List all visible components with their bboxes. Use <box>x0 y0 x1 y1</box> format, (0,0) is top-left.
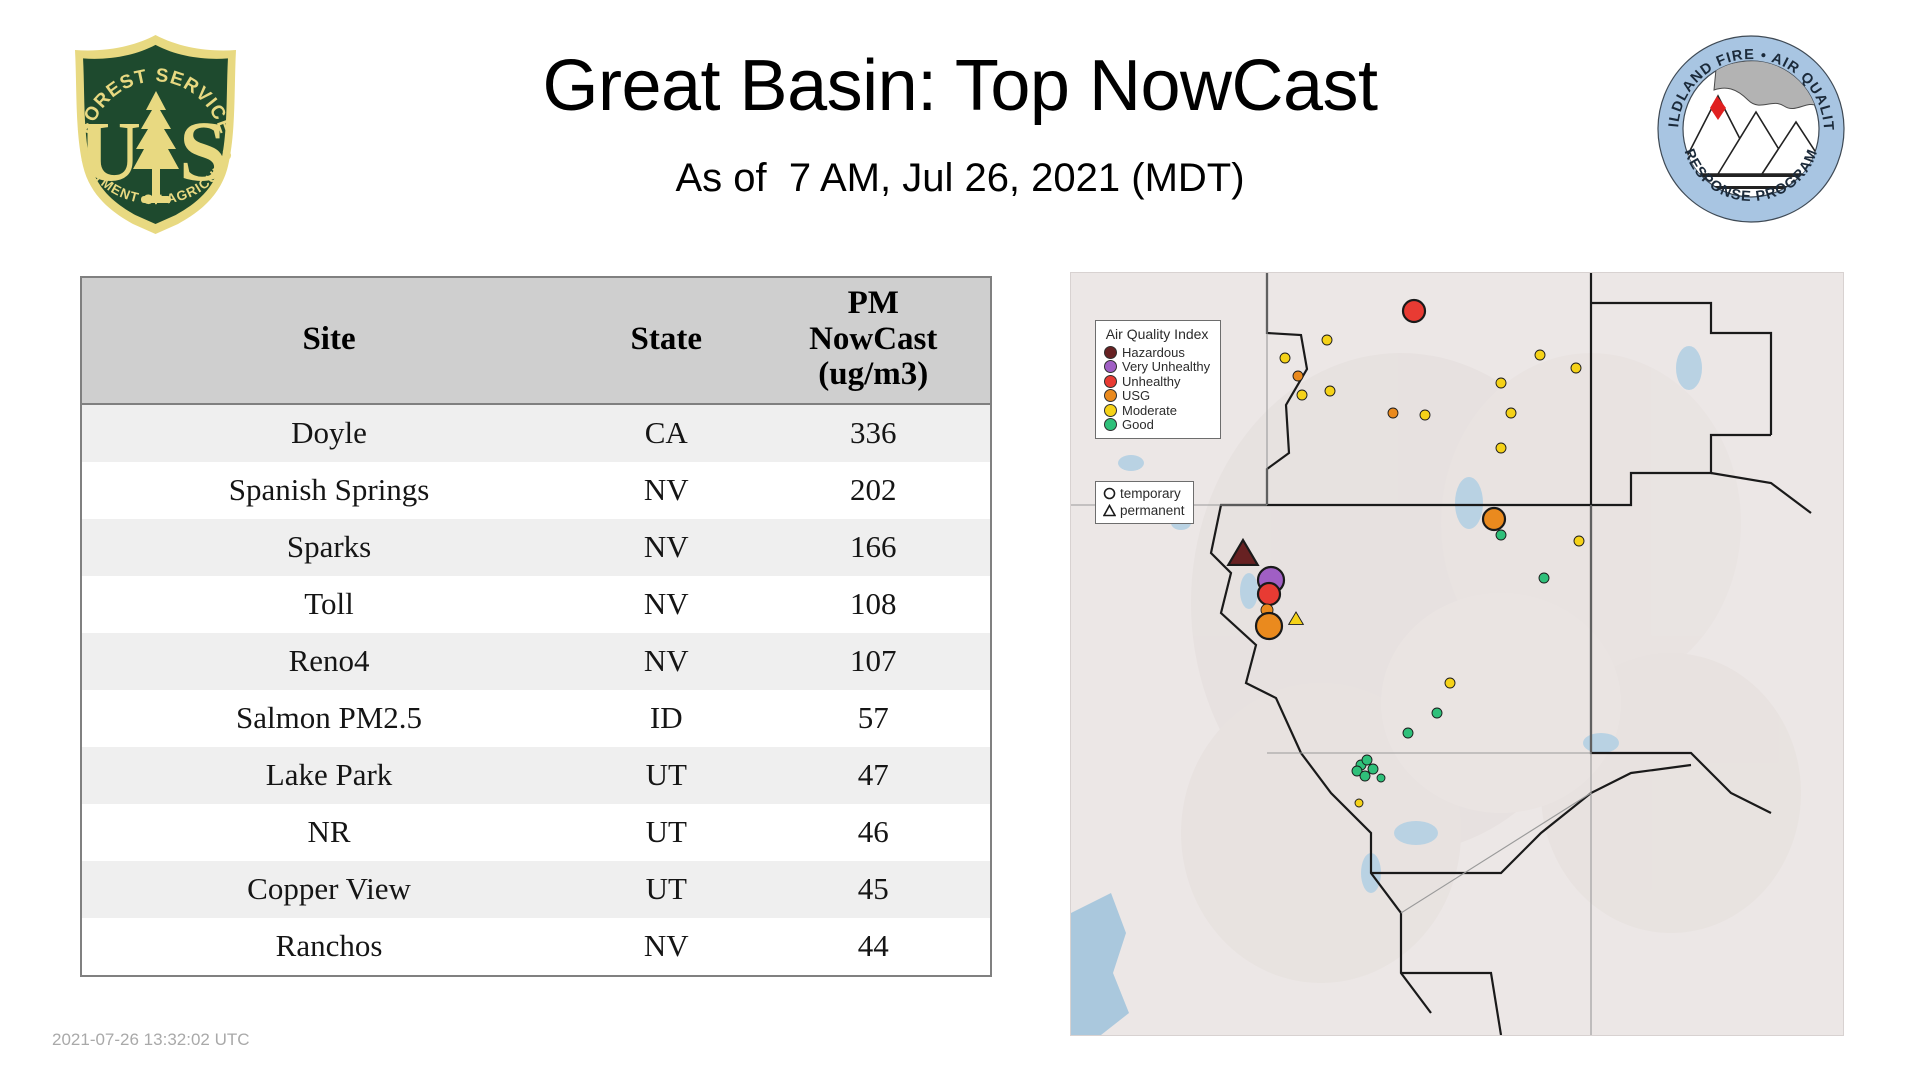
aqi-color-swatch <box>1104 360 1117 373</box>
cell-state: UT <box>576 747 756 804</box>
pm-header-line-2: NowCast <box>760 322 986 358</box>
aqi-legend: Air Quality Index HazardousVery Unhealth… <box>1095 320 1221 439</box>
column-header-site: Site <box>81 277 576 404</box>
cell-state: NV <box>576 576 756 633</box>
monitor-marker-temporary[interactable] <box>1377 774 1385 782</box>
monitor-marker-temporary[interactable] <box>1362 755 1372 765</box>
cell-state: ID <box>576 690 756 747</box>
aqi-legend-row: USG <box>1104 389 1210 404</box>
cell-state: UT <box>576 861 756 918</box>
monitor-marker-temporary[interactable] <box>1368 764 1378 774</box>
monitor-marker-temporary[interactable] <box>1496 378 1506 388</box>
aqi-legend-row: Moderate <box>1104 403 1210 418</box>
table-row: Salmon PM2.5ID57 <box>81 690 991 747</box>
cell-state: UT <box>576 804 756 861</box>
table-row: Spanish SpringsNV202 <box>81 462 991 519</box>
cell-site: Sparks <box>81 519 576 576</box>
aqi-color-swatch <box>1104 418 1117 431</box>
aqi-legend-row: Very Unhealthy <box>1104 360 1210 375</box>
aqi-legend-label: Hazardous <box>1122 346 1185 359</box>
page-title: Great Basin: Top NowCast <box>280 50 1640 122</box>
aqi-color-swatch <box>1104 389 1117 402</box>
cell-state: NV <box>576 519 756 576</box>
cell-state: NV <box>576 918 756 976</box>
cell-pm-nowcast: 108 <box>756 576 991 633</box>
aqi-legend-row: Unhealthy <box>1104 374 1210 389</box>
column-header-pm-nowcast: PM NowCast (ug/m3) <box>756 277 991 404</box>
wildland-fire-air-quality-seal: WILDLAND FIRE • AIR QUALITY RESPONSE PRO… <box>1656 34 1846 224</box>
footer-timestamp: 2021-07-26 13:32:02 UTC <box>52 1030 250 1050</box>
aqi-legend-title: Air Quality Index <box>1104 326 1210 342</box>
monitor-marker-temporary[interactable] <box>1539 573 1549 583</box>
cell-state: NV <box>576 633 756 690</box>
cell-pm-nowcast: 202 <box>756 462 991 519</box>
table-header-row: Site State PM NowCast (ug/m3) <box>81 277 991 404</box>
cell-pm-nowcast: 336 <box>756 404 991 462</box>
table-row: Lake ParkUT47 <box>81 747 991 804</box>
monitor-marker-temporary[interactable] <box>1571 363 1581 373</box>
aqi-color-swatch <box>1104 404 1117 417</box>
monitor-marker-temporary[interactable] <box>1420 410 1430 420</box>
cell-site: Doyle <box>81 404 576 462</box>
cell-site: Reno4 <box>81 633 576 690</box>
column-header-state: State <box>576 277 756 404</box>
monitor-marker-temporary[interactable] <box>1256 613 1282 639</box>
table-body: DoyleCA336Spanish SpringsNV202SparksNV16… <box>81 404 991 976</box>
aqi-color-swatch <box>1104 375 1117 388</box>
cell-pm-nowcast: 44 <box>756 918 991 976</box>
monitor-marker-temporary[interactable] <box>1325 386 1335 396</box>
monitor-marker-temporary[interactable] <box>1258 583 1280 605</box>
monitor-marker-temporary[interactable] <box>1403 300 1425 322</box>
monitor-marker-temporary[interactable] <box>1496 530 1506 540</box>
legend-label-temporary: temporary <box>1120 487 1181 501</box>
monitor-marker-temporary[interactable] <box>1496 443 1506 453</box>
aqi-legend-row: Hazardous <box>1104 345 1210 360</box>
table-row: SparksNV166 <box>81 519 991 576</box>
monitor-marker-temporary[interactable] <box>1293 371 1303 381</box>
aqi-legend-items: HazardousVery UnhealthyUnhealthyUSGModer… <box>1104 345 1210 432</box>
cell-pm-nowcast: 47 <box>756 747 991 804</box>
aqi-color-swatch <box>1104 346 1117 359</box>
table-row: DoyleCA336 <box>81 404 991 462</box>
aqi-legend-label: Moderate <box>1122 404 1177 417</box>
nowcast-table-panel: Site State PM NowCast (ug/m3) DoyleCA336… <box>80 276 992 977</box>
page-header: FOREST SERVICE U S DEPARTMENT OF AGRICUL… <box>0 0 1920 268</box>
us-forest-service-logo: FOREST SERVICE U S DEPARTMENT OF AGRICUL… <box>53 28 258 240</box>
table-row: Copper ViewUT45 <box>81 861 991 918</box>
cell-site: Toll <box>81 576 576 633</box>
cell-pm-nowcast: 46 <box>756 804 991 861</box>
cell-pm-nowcast: 45 <box>756 861 991 918</box>
monitor-type-legend: temporary permanent <box>1095 481 1194 524</box>
cell-state: NV <box>576 462 756 519</box>
circle-icon <box>1101 487 1117 500</box>
monitor-marker-temporary[interactable] <box>1506 408 1516 418</box>
cell-pm-nowcast: 57 <box>756 690 991 747</box>
title-block: Great Basin: Top NowCast As of 7 AM, Jul… <box>280 50 1640 198</box>
legend-row-temporary: temporary <box>1101 485 1185 502</box>
cell-site: Ranchos <box>81 918 576 976</box>
monitor-marker-temporary[interactable] <box>1280 353 1290 363</box>
monitor-marker-temporary[interactable] <box>1360 771 1370 781</box>
monitor-marker-temporary[interactable] <box>1445 678 1455 688</box>
cell-site: Lake Park <box>81 747 576 804</box>
table-row: Reno4NV107 <box>81 633 991 690</box>
air-quality-map[interactable]: Air Quality Index HazardousVery Unhealth… <box>1070 272 1844 1036</box>
aqi-legend-label: USG <box>1122 389 1150 402</box>
cell-site: Spanish Springs <box>81 462 576 519</box>
monitor-marker-temporary[interactable] <box>1535 350 1545 360</box>
monitor-marker-temporary[interactable] <box>1388 408 1398 418</box>
top-nowcast-table: Site State PM NowCast (ug/m3) DoyleCA336… <box>80 276 992 977</box>
monitor-marker-temporary[interactable] <box>1297 390 1307 400</box>
cell-site: Copper View <box>81 861 576 918</box>
aqi-legend-label: Unhealthy <box>1122 375 1181 388</box>
aqi-legend-label: Very Unhealthy <box>1122 360 1210 373</box>
cell-pm-nowcast: 166 <box>756 519 991 576</box>
cell-pm-nowcast: 107 <box>756 633 991 690</box>
table-row: NRUT46 <box>81 804 991 861</box>
monitor-marker-temporary[interactable] <box>1574 536 1584 546</box>
monitor-marker-temporary[interactable] <box>1432 708 1442 718</box>
table-row: RanchosNV44 <box>81 918 991 976</box>
aqi-legend-row: Good <box>1104 418 1210 433</box>
legend-row-permanent: permanent <box>1101 502 1185 519</box>
monitor-marker-temporary[interactable] <box>1403 728 1413 738</box>
triangle-icon <box>1101 504 1117 517</box>
legend-label-permanent: permanent <box>1120 504 1185 518</box>
page-subtitle: As of 7 AM, Jul 26, 2021 (MDT) <box>280 158 1640 198</box>
cell-site: NR <box>81 804 576 861</box>
monitor-marker-temporary[interactable] <box>1355 799 1363 807</box>
monitor-marker-temporary[interactable] <box>1322 335 1332 345</box>
aqi-legend-label: Good <box>1122 418 1154 431</box>
pm-header-line-3: (ug/m3) <box>760 357 986 393</box>
pm-header-line-1: PM <box>760 286 986 322</box>
monitor-marker-temporary[interactable] <box>1483 508 1505 530</box>
table-row: TollNV108 <box>81 576 991 633</box>
cell-site: Salmon PM2.5 <box>81 690 576 747</box>
cell-state: CA <box>576 404 756 462</box>
